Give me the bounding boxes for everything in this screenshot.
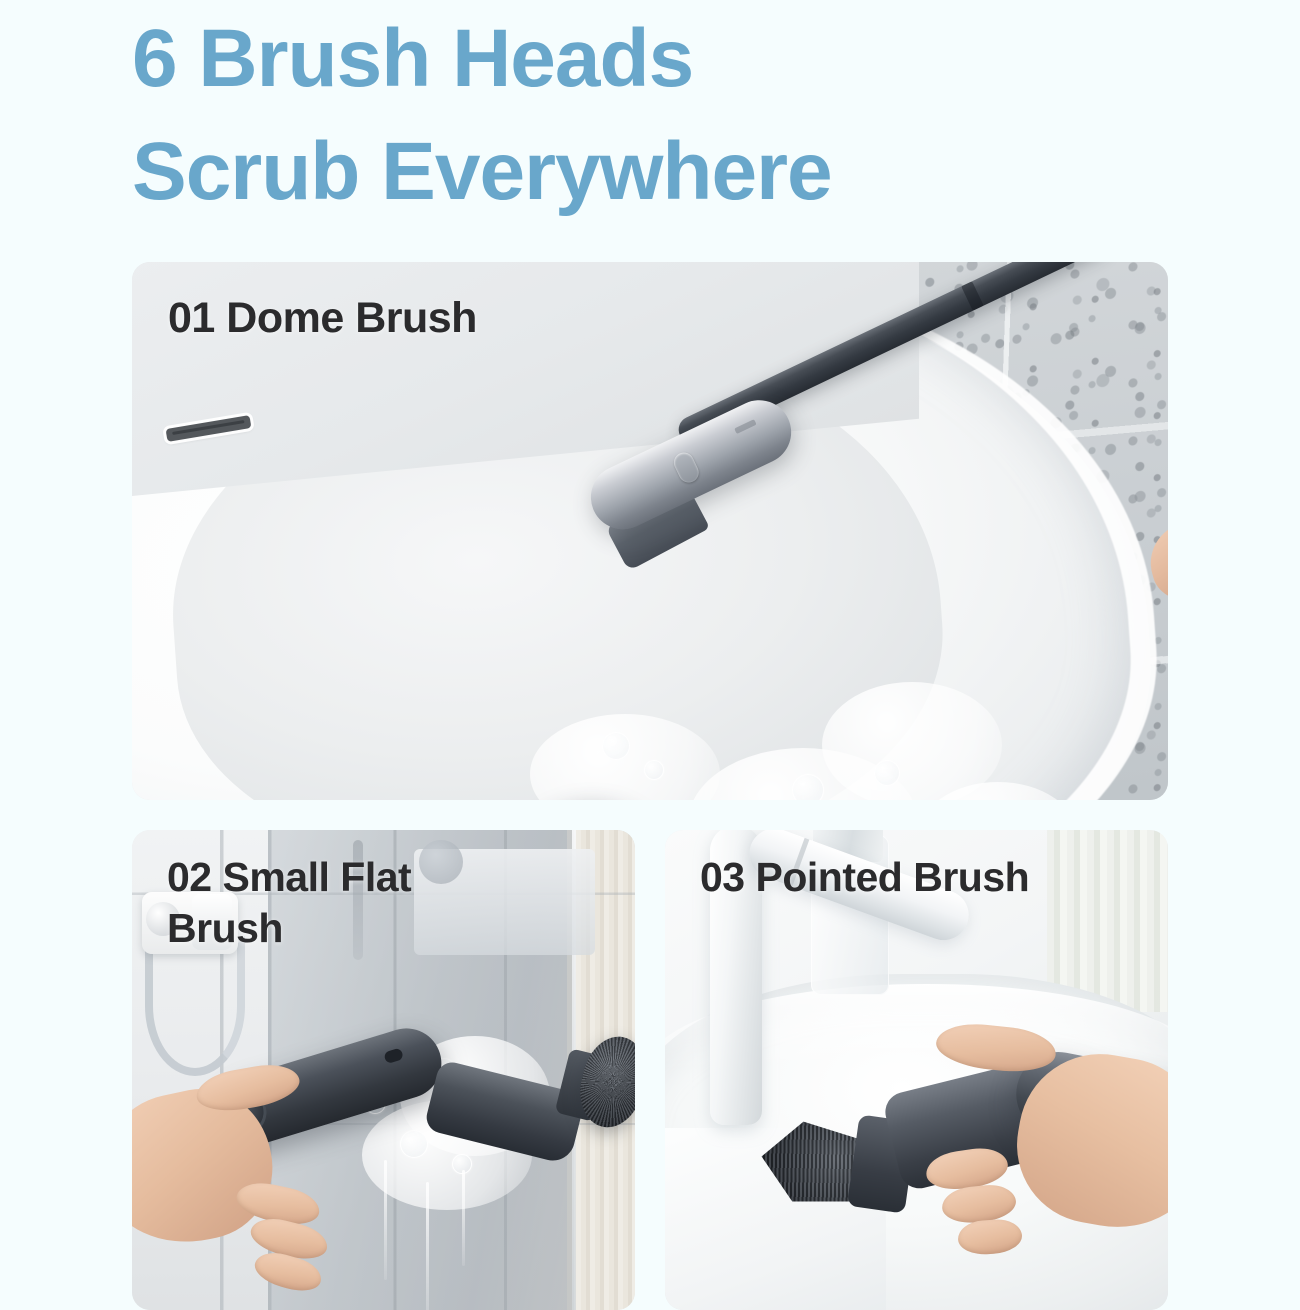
bubble [874, 760, 900, 786]
brush-card-dome[interactable]: 01 Dome Brush [132, 262, 1168, 800]
water-drip [384, 1160, 387, 1280]
bubble [400, 1130, 428, 1158]
power-button[interactable] [671, 449, 702, 486]
page-title-line-2: Scrub Everywhere [132, 115, 1192, 228]
card-label-pointed: 03 Pointed Brush [700, 852, 1130, 903]
brush-card-pointed[interactable]: 03 Pointed Brush [665, 830, 1168, 1310]
page-title: 6 Brush Heads Scrub Everywhere [132, 2, 1192, 228]
power-button[interactable] [383, 1047, 404, 1064]
foam-patch [822, 682, 1002, 800]
bubble [792, 774, 824, 800]
brand-mark [734, 419, 756, 434]
bubble [644, 760, 664, 780]
bubble [602, 732, 630, 760]
water-drip [426, 1182, 429, 1310]
brush-card-small-flat[interactable]: 02 Small Flat Brush [132, 830, 635, 1310]
card-label-dome: 01 Dome Brush [168, 294, 477, 344]
shower-hose [145, 936, 245, 1076]
page-title-line-1: 6 Brush Heads [132, 2, 1192, 115]
water-drip [462, 1170, 465, 1266]
pole-joint [961, 281, 983, 311]
card-label-small-flat: 02 Small Flat Brush [167, 852, 497, 955]
